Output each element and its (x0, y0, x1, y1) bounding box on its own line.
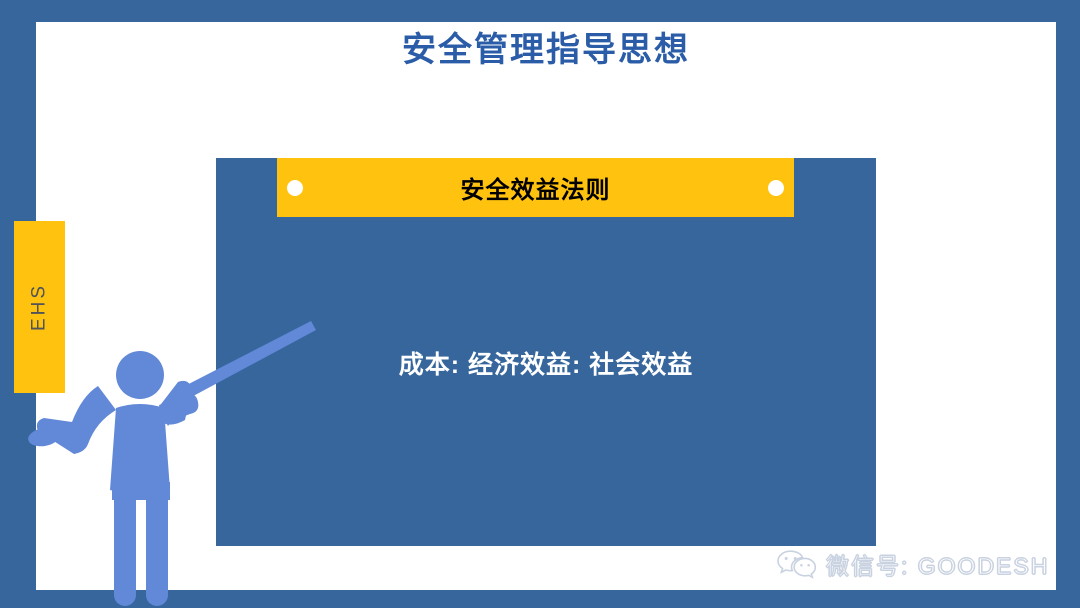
wechat-id-label: 微信号: GOODESH (826, 547, 1049, 581)
frame-border-top (36, 0, 1080, 22)
frame-border-right (1056, 22, 1080, 608)
banner-header: 安全效益法则 (277, 158, 794, 217)
wechat-icon (776, 549, 818, 579)
presenter-with-pointer-icon (28, 300, 328, 608)
page-title: 安全管理指导思想 (36, 30, 1056, 71)
wechat-footer: 微信号: GOODESH (776, 546, 1049, 582)
slide-canvas: 安全管理指导思想 成本: 经济效益: 社会效益 安全效益法则 EHS (0, 0, 1080, 608)
banner-label: 安全效益法则 (277, 158, 794, 217)
